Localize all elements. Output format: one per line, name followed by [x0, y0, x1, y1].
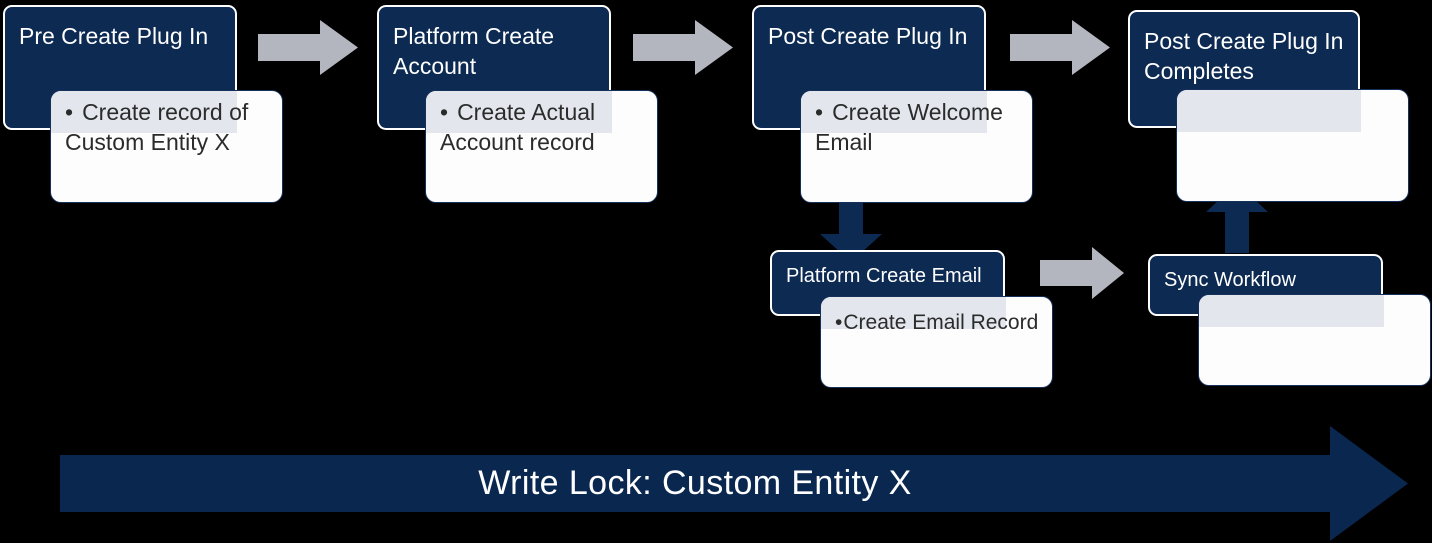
node-body-text — [1177, 90, 1408, 126]
bullet-icon: • — [65, 97, 73, 127]
node-body-text: •Create Welcome Email — [801, 91, 1032, 157]
grey-arrow-svg-3 — [1010, 20, 1110, 75]
node-body-post-create-plug-in[interactable]: •Create Welcome Email — [800, 90, 1033, 203]
diagram-canvas: Pre Create Plug In •Create record of Cus… — [0, 0, 1432, 543]
node-title-label: Post Create Plug In — [768, 23, 967, 49]
write-lock-banner-shape — [60, 426, 1408, 541]
grey-arrow-svg-1 — [258, 20, 358, 75]
write-lock-banner[interactable]: Write Lock: Custom Entity X — [60, 426, 1408, 541]
node-body-sync-workflow[interactable] — [1198, 294, 1431, 386]
node-body-label: Create Actual Account record — [440, 99, 595, 155]
node-body-text — [1199, 295, 1430, 335]
node-title-label: Pre Create Plug In — [19, 23, 208, 49]
bullet-icon: • — [835, 309, 842, 337]
grey-right-arrow-icon-4 — [1040, 247, 1124, 299]
bullet-icon: • — [440, 97, 448, 127]
node-title-label: Platform Create Email — [786, 265, 982, 287]
grey-right-arrow-icon-2 — [633, 20, 733, 75]
grey-right-arrow-icon-1 — [258, 20, 358, 75]
node-body-platform-create-account[interactable]: •Create Actual Account record — [425, 90, 658, 203]
node-body-text: •Create Actual Account record — [426, 91, 657, 157]
node-body-label: Create Welcome Email — [815, 99, 1003, 155]
node-body-pre-create-plug-in[interactable]: •Create record of Custom Entity X — [50, 90, 283, 203]
node-title-label: Sync Workflow — [1164, 269, 1296, 291]
grey-right-arrow-icon-3 — [1010, 20, 1110, 75]
node-body-post-create-plug-in-completes[interactable] — [1176, 89, 1409, 202]
grey-arrow-svg-4 — [1040, 247, 1124, 299]
node-body-label: Create record of Custom Entity X — [65, 99, 248, 155]
grey-arrow-svg-2 — [633, 20, 733, 75]
node-title-label: Platform Create Account — [393, 23, 554, 79]
bullet-icon: • — [815, 97, 823, 127]
node-body-platform-create-email[interactable]: •Create Email Record — [820, 296, 1053, 388]
node-body-text: •Create record of Custom Entity X — [51, 91, 282, 157]
node-body-text: •Create Email Record — [821, 297, 1052, 337]
node-body-label: Create Email Record — [843, 311, 1038, 334]
node-title-label: Post Create Plug In Completes — [1144, 28, 1343, 84]
